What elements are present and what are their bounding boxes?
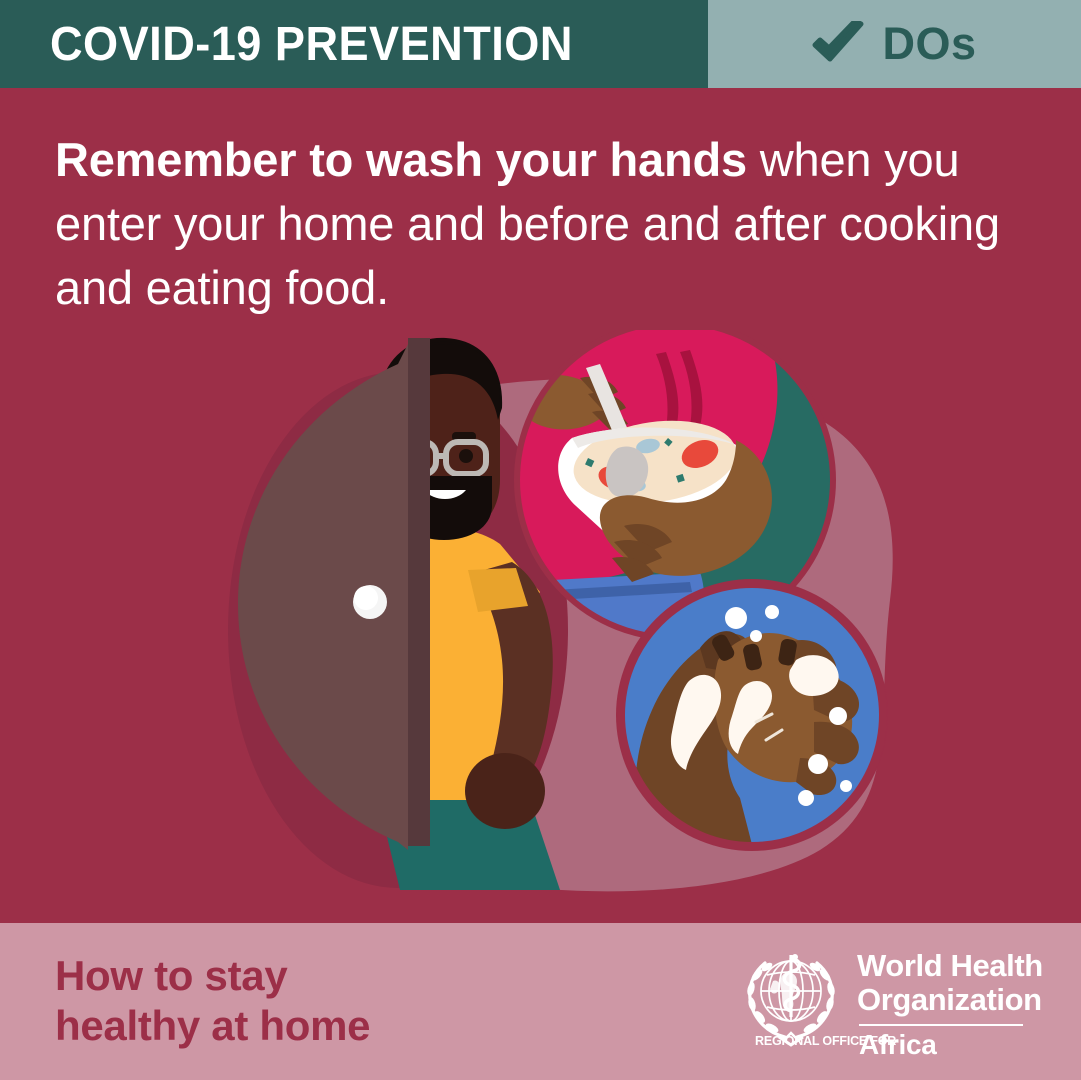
illustration bbox=[0, 330, 1081, 925]
footer-tagline: How to stay healthy at home bbox=[55, 951, 370, 1051]
page-title: COVID-19 PREVENTION bbox=[50, 17, 573, 72]
header-bar: COVID-19 PREVENTION DOs bbox=[0, 0, 1081, 88]
footer-bar: How to stay healthy at home bbox=[0, 923, 1081, 1080]
who-region-name: Africa bbox=[859, 1029, 937, 1061]
who-logo-divider bbox=[859, 1024, 1023, 1026]
check-icon bbox=[812, 21, 864, 67]
headline-bold: Remember to wash your hands bbox=[55, 133, 747, 186]
header-left-panel: COVID-19 PREVENTION bbox=[0, 0, 708, 88]
dos-label: DOs bbox=[882, 18, 976, 70]
who-logo: World Health Organization REGIONAL OFFIC… bbox=[735, 941, 1045, 1066]
poster: COVID-19 PREVENTION DOs Remember to wash… bbox=[0, 0, 1081, 1080]
headline-text: Remember to wash your hands when you ent… bbox=[55, 128, 1040, 320]
dos-badge: DOs bbox=[708, 0, 1081, 88]
who-wordmark: World Health Organization bbox=[857, 949, 1043, 1017]
